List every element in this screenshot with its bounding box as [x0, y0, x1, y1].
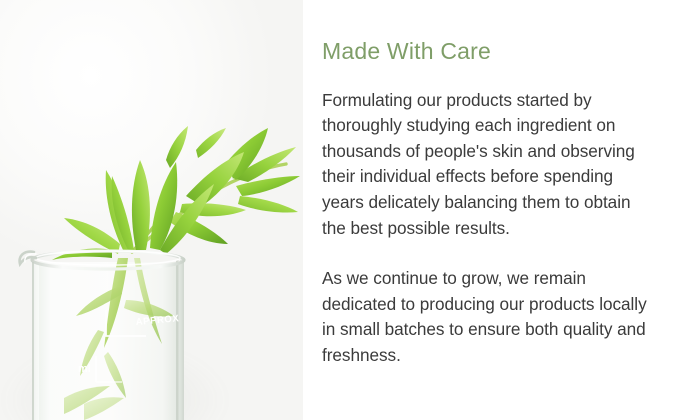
stevia-foliage-upper [52, 126, 300, 260]
product-text-panel: Made With Care Formulating our products … [303, 0, 679, 420]
body-paragraph-2: As we continue to grow, we remain dedica… [322, 266, 653, 368]
beaker-with-stevia-illustration: APPROX ml [0, 0, 303, 420]
glass-beaker: APPROX ml [20, 251, 184, 420]
section-heading: Made With Care [322, 38, 653, 66]
body-paragraph-1: Formulating our products started by thor… [322, 88, 653, 242]
product-info-card: APPROX ml Made With Care Formulating our… [0, 0, 679, 420]
beaker-volume-label: ml [78, 363, 91, 375]
product-photo-panel: APPROX ml [0, 0, 303, 420]
